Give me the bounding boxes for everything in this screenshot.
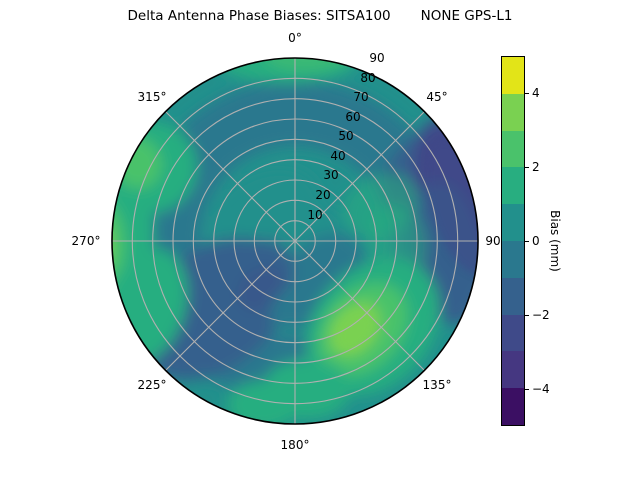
colorbar-band xyxy=(502,388,524,425)
colorbar-tick-m2 xyxy=(525,315,529,316)
figure-title: Delta Antenna Phase Biases: SITSA100 NON… xyxy=(0,8,640,24)
angular-tick-225: 225° xyxy=(138,378,167,392)
radial-tick-80: 80 xyxy=(360,71,375,85)
angular-tick-0: 0° xyxy=(288,31,302,45)
colorbar-band xyxy=(502,57,524,94)
colorbar-band xyxy=(502,351,524,388)
angular-tick-315: 315° xyxy=(138,90,167,104)
colorbar: 4 2 0 −2 −4 xyxy=(501,56,525,426)
radial-tick-60: 60 xyxy=(345,110,360,124)
polar-grid xyxy=(112,58,478,424)
colorbar-ticklabel-m4: −4 xyxy=(532,382,550,396)
colorbar-band xyxy=(502,315,524,352)
colorbar-band xyxy=(502,278,524,315)
polar-axes xyxy=(111,57,479,425)
colorbar-band xyxy=(502,204,524,241)
radial-tick-20: 20 xyxy=(315,188,330,202)
angular-tick-180: 180° xyxy=(281,438,310,452)
angular-tick-45: 45° xyxy=(426,90,447,104)
radial-tick-40: 40 xyxy=(330,149,345,163)
angular-tick-270: 270° xyxy=(72,234,101,248)
colorbar-ticklabel-2: 2 xyxy=(532,160,540,174)
matplotlib-figure: Delta Antenna Phase Biases: SITSA100 NON… xyxy=(0,0,640,480)
colorbar-ticklabel-4: 4 xyxy=(532,86,540,100)
radial-tick-10: 10 xyxy=(307,208,322,222)
colorbar-tick-2 xyxy=(525,167,529,168)
colorbar-gradient xyxy=(501,56,525,426)
angular-tick-135: 135° xyxy=(423,378,452,392)
colorbar-band xyxy=(502,167,524,204)
colorbar-tick-0 xyxy=(525,241,529,242)
colorbar-tick-m4 xyxy=(525,389,529,390)
radial-tick-30: 30 xyxy=(323,168,338,182)
radial-tick-70: 70 xyxy=(353,90,368,104)
radial-tick-50: 50 xyxy=(338,129,353,143)
colorbar-ticklabel-0: 0 xyxy=(532,234,540,248)
polar-contour-plot xyxy=(111,57,479,425)
colorbar-band xyxy=(502,131,524,168)
colorbar-axis-label: Bias (mm) xyxy=(548,210,562,272)
radial-tick-90: 90 xyxy=(369,51,384,65)
colorbar-tick-4 xyxy=(525,93,529,94)
colorbar-band xyxy=(502,94,524,131)
colorbar-band xyxy=(502,241,524,278)
colorbar-ticklabel-m2: −2 xyxy=(532,308,550,322)
